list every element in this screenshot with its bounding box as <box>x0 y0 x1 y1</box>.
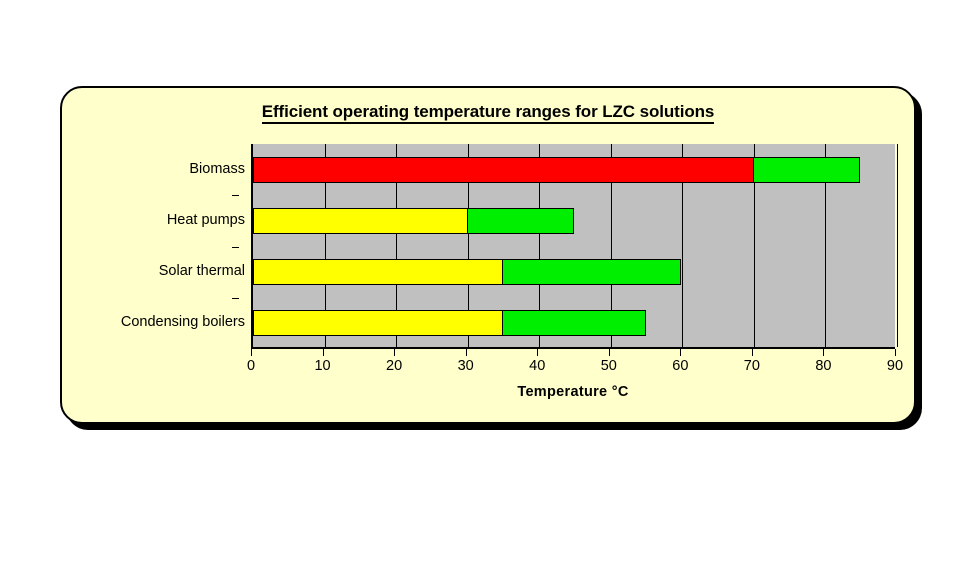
x-axis-label: 80 <box>793 358 853 374</box>
x-axis-tick <box>394 349 395 356</box>
x-axis-label: 60 <box>650 358 710 374</box>
gridline-vertical <box>897 144 898 347</box>
x-axis-tick <box>466 349 467 356</box>
x-axis-tick <box>895 349 896 356</box>
bar-heat-pumps[interactable] <box>253 208 574 234</box>
x-axis-label: 0 <box>221 358 281 374</box>
bar-condensing-boilers[interactable] <box>253 310 646 336</box>
y-axis-tick <box>232 247 239 248</box>
bar-segment[interactable] <box>502 259 681 285</box>
plot-area <box>251 144 895 349</box>
chart-panel: Efficient operating temperature ranges f… <box>60 86 916 424</box>
x-axis-tick <box>823 349 824 356</box>
x-axis-label: 90 <box>865 358 925 374</box>
x-axis-label: 40 <box>507 358 567 374</box>
bar-segment[interactable] <box>253 259 503 285</box>
category-label-condensing-boilers: Condensing boilers <box>45 314 245 330</box>
x-axis-title: Temperature °C <box>251 384 895 400</box>
x-axis-label: 10 <box>293 358 353 374</box>
x-axis-tick <box>752 349 753 356</box>
x-axis-tick <box>609 349 610 356</box>
x-axis-tick <box>680 349 681 356</box>
bar-solar-thermal[interactable] <box>253 259 681 285</box>
x-axis-label: 50 <box>579 358 639 374</box>
bar-segment[interactable] <box>502 310 645 336</box>
x-axis-tick <box>537 349 538 356</box>
bar-biomass[interactable] <box>253 157 860 183</box>
bar-segment[interactable] <box>253 310 503 336</box>
chart-title: Efficient operating temperature ranges f… <box>62 102 914 122</box>
x-axis-label: 70 <box>722 358 782 374</box>
x-axis-label: 20 <box>364 358 424 374</box>
y-axis-tick <box>232 298 239 299</box>
x-axis-label: 30 <box>436 358 496 374</box>
y-axis-tick <box>232 195 239 196</box>
bar-segment[interactable] <box>467 208 574 234</box>
category-label-solar-thermal: Solar thermal <box>45 263 245 279</box>
x-axis-tick <box>323 349 324 356</box>
chart-title-text: Efficient operating temperature ranges f… <box>262 102 715 124</box>
category-label-biomass: Biomass <box>45 161 245 177</box>
category-label-heat-pumps: Heat pumps <box>45 212 245 228</box>
x-axis-tick <box>251 349 252 356</box>
bar-segment[interactable] <box>253 208 468 234</box>
category-axis: BiomassHeat pumpsSolar thermalCondensing… <box>50 144 245 349</box>
bar-segment[interactable] <box>253 157 754 183</box>
bar-segment[interactable] <box>753 157 860 183</box>
